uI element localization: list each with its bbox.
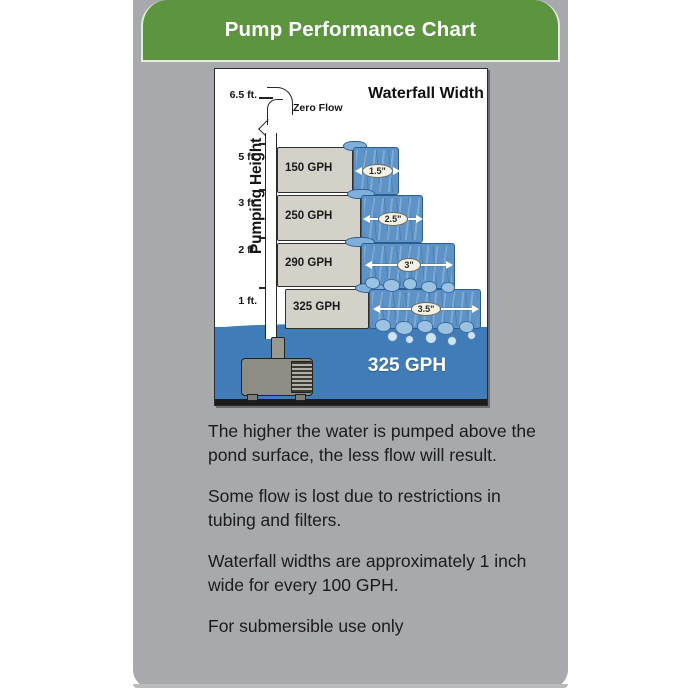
bubble [467,331,476,340]
step-label-150gph: 150 GPH [285,162,332,174]
measure-line [380,308,411,311]
paragraph-4: For submersible use only [208,615,538,639]
pump-performance-chart: Pumping Height Waterfall Width Zero Flow… [214,68,488,406]
width-value-1: 1.5" [362,164,393,178]
measure-line [408,218,416,221]
step-label-250gph: 250 GPH [285,210,332,222]
splash-rock [403,278,417,290]
measure-line [370,218,378,221]
card-bottom-edge [133,684,568,688]
header-banner: Pump Performance Chart [141,0,560,62]
width-value-4: 3.5" [411,302,442,316]
bubble [447,336,457,346]
bubble [405,335,414,344]
measure-line [372,264,397,267]
width-value-2: 2.5" [378,212,409,226]
pump-foot [295,394,306,401]
splash-rock [375,319,391,332]
paragraph-1: The higher the water is pumped above the… [208,420,538,467]
zero-flow-label: Zero Flow [293,102,343,114]
width-measure-1: 1.5" [355,165,399,177]
paragraph-3: Waterfall widths are approximately 1 inc… [208,550,538,597]
pump-intake-grill [291,361,313,393]
measure-arrow-left-icon [363,215,370,223]
measure-arrow-left-icon [365,261,372,269]
measure-arrow-left-icon [373,305,380,313]
bubble [387,331,398,342]
bubble [425,332,437,344]
measure-line [421,264,446,267]
y-tick-1ft: 1 ft. [214,295,257,307]
measure-arrow-right-icon [393,167,400,175]
measure-arrow-left-icon [355,167,362,175]
pump-rating-label: 325 GPH [347,355,467,377]
splash-rock [395,321,413,335]
measure-arrow-right-icon [446,261,453,269]
x-axis-title: Waterfall Width [367,85,485,102]
product-info-card-page: Pump Performance Chart Pumping Height Wa… [0,0,700,700]
splash-rock [421,281,437,293]
measure-line [441,308,472,311]
width-measure-4: 3.5" [373,303,479,315]
width-measure-3: 3" [365,259,453,271]
y-tick-2ft: 2 ft. [214,244,257,256]
zero-flow-tube-return [267,99,283,125]
splash-rock [441,282,455,293]
chart-canvas: Pumping Height Waterfall Width Zero Flow… [215,69,487,405]
y-tick-3ft: 3 ft. [214,197,257,209]
y-tick-5ft: 5 ft. [214,151,257,163]
step-label-325gph: 325 GPH [293,301,340,313]
step-label-290gph: 290 GPH [285,257,332,269]
measure-arrow-right-icon [472,305,479,313]
splash-rock [437,322,454,335]
splash-rock [365,277,380,289]
measure-arrow-right-icon [416,215,423,223]
page-title: Pump Performance Chart [225,18,477,42]
splash-rock [383,279,400,292]
riser-pipe [265,133,277,339]
pump-foot [247,394,258,401]
y-tick-6-5ft: 6.5 ft. [214,89,257,101]
width-measure-2: 2.5" [363,213,423,225]
description-text: The higher the water is pumped above the… [208,420,538,639]
width-value-3: 3" [397,258,420,272]
paragraph-2: Some flow is lost due to restrictions in… [208,485,538,532]
